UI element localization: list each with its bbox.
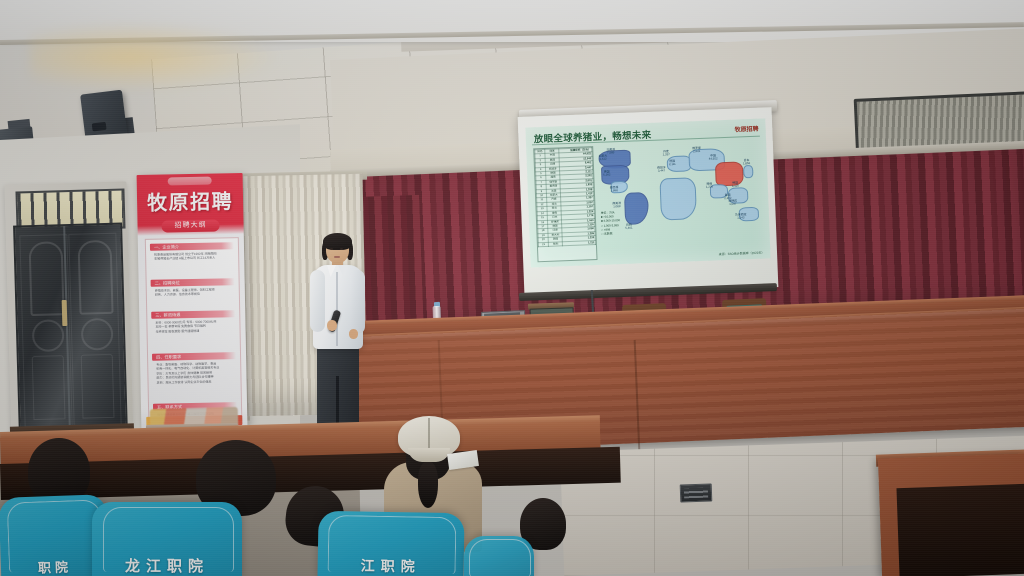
presenter-mouth: [334, 256, 340, 258]
entrance-door[interactable]: [13, 223, 128, 438]
banner-section: 二、招聘岗位养殖技术员、兽医、设备工程师、饲料工程师财务、人力资源、信息技术等岗…: [151, 278, 235, 297]
map-country-label: 北美洲7,585: [606, 148, 615, 155]
map-country-label: 俄罗斯2,601: [692, 147, 701, 154]
presenter-hair: [323, 233, 352, 250]
map-country-label: 美国5,362: [603, 170, 610, 177]
banner-headline: 牧原招聘: [137, 185, 244, 216]
map-country-label: 日本1,856: [743, 159, 750, 166]
ranking-table: 排名国家生猪存栏（万头）1中国44,9222美国12,9403巴西5,4614西…: [534, 147, 596, 247]
chair-piping: [469, 539, 531, 576]
table-cell: 1,211: [563, 240, 596, 246]
banner-content-panel: 一、企业简介牧原食品股份有限公司 创立于1992年 河南南阳生猪养殖全产业链 A…: [145, 237, 243, 423]
presenter-eye: [340, 248, 343, 250]
banner-text-line: 其他：服从工作安排 认同企业文化价值观: [157, 379, 234, 385]
map-country-label: 德国2,111: [669, 160, 676, 167]
map-country-label: 加拿大1,412: [598, 155, 607, 162]
presenter: [302, 236, 372, 448]
banner-section: 四、任职要求专业：畜牧兽医、动物科学、动物医学、食品机电一体化、电气自动化、计算…: [152, 352, 237, 385]
presenter-arm: [350, 270, 365, 334]
slide-legend: 单位：万头 ■ >10,000■ 4,000-10,000□ 1,000-3,9…: [601, 210, 621, 236]
door-arch-panel: [29, 241, 65, 316]
legend-items: ■ >10,000■ 4,000-10,000□ 1,000-3,999□ <9…: [601, 214, 621, 236]
map-region-china: [715, 161, 744, 186]
door-lower-panel: [32, 355, 66, 420]
audience-chair[interactable]: 龙江职院: [92, 502, 242, 576]
map-country-label: 西班牙3,447: [657, 166, 666, 173]
map-region-brazil: [624, 192, 649, 225]
company-logo-icon: [168, 177, 212, 186]
door-circle-panel: [32, 319, 65, 352]
map-country-label: 缅甸1,226: [706, 183, 713, 190]
banner-section-text: 牧原食品股份有限公司 创立于1992年 河南南阳生猪养殖全产业链 A股上市公司 …: [150, 249, 234, 261]
banner-text-line: 年终奖金 股权激励 晋升通道畅通: [156, 328, 233, 334]
map-country-label: 中国44,922: [709, 154, 718, 161]
door-leaf-right: [68, 233, 121, 426]
banner-section: 一、企业简介牧原食品股份有限公司 创立于1992年 河南南阳生猪养殖全产业链 A…: [150, 242, 234, 261]
desk-right-shadow: [896, 484, 1024, 576]
map-region-japan: [743, 165, 753, 178]
map-country-label: 南美洲1,089: [612, 202, 621, 209]
table-cell: 21: [538, 242, 548, 247]
audience-chair[interactable]: 江职院: [317, 511, 464, 576]
banner-section: 三、薪资待遇本科：6000-9000元/月 专科：5000-7000元/月五险一…: [151, 310, 235, 334]
map-country-label: 马来西亚1,343: [735, 213, 747, 220]
table-row: 21智利1,211: [538, 240, 595, 247]
map-country-label: 韩国1,116: [732, 182, 739, 189]
door-lower-panel: [81, 354, 115, 419]
legend-item: □ 无数据: [601, 231, 620, 236]
presenter-hand: [327, 320, 337, 331]
slide-ranking-table: 排名国家生猪存栏（万头）1中国44,9222美国12,9403巴西5,4614西…: [533, 146, 597, 262]
chair-school-label: 江职院: [318, 555, 464, 576]
banner-section-text: 养殖技术员、兽医、设备工程师、饲料工程师财务、人力资源、信息技术等岗位: [151, 285, 235, 297]
world-map-graphic: 北美洲7,585美国5,362加拿大1,412墨西哥1,868巴西5,461南美…: [596, 141, 764, 249]
slide-source-note: 来源：FAO统计数据库（2022年）: [719, 251, 765, 257]
door-handle[interactable]: [62, 300, 68, 326]
ceiling-light-glow: [30, 22, 280, 92]
door-arch-panel: [78, 240, 114, 315]
banner-subtitle: 招聘大纲: [161, 219, 219, 232]
audience-chair[interactable]: [464, 536, 534, 576]
map-country-label: 墨西哥1,868: [610, 186, 619, 193]
chair-school-label: 龙江职院: [92, 555, 242, 576]
audience-ponytail: [418, 462, 438, 508]
auditorium-photo: 放眼全球养猪业，畅想未来 牧原招聘 排名国家生猪存栏（万头）1中国44,9222…: [0, 0, 1024, 576]
stage-plaque: [680, 483, 713, 502]
map-country-label: 菲律宾1,097: [728, 200, 737, 207]
map-country-label: 巴西5,461: [625, 224, 632, 231]
presenter-shirt-placket: [336, 272, 338, 346]
map-region-africa: [659, 177, 697, 220]
presentation-slide: 放眼全球养猪业，畅想未来 牧原招聘 排名国家生猪存栏（万头）1中国44,9222…: [525, 118, 770, 267]
banner-section-text: 本科：6000-9000元/月 专科：5000-7000元/月五险一金 带薪年假…: [151, 317, 235, 334]
table-cell: 智利: [549, 241, 563, 246]
banner-text-line: 生猪养殖全产业链 A股上市公司 员工14万余人: [154, 256, 231, 262]
banner-text-line: 财务、人力资源、信息技术等岗位: [155, 292, 232, 298]
door-circle-panel: [81, 318, 114, 351]
presenter-arm: [310, 270, 325, 332]
presenter-eye: [330, 248, 333, 250]
map-country-label: 丹麦1,337: [662, 150, 669, 157]
banner-section-text: 专业：畜牧兽医、动物科学、动物医学、食品机电一体化、电气自动化、计算机类等相关专…: [152, 359, 236, 385]
recruitment-banner: 牧原招聘 招聘大纲 一、企业简介牧原食品股份有限公司 创立于1992年 河南南阳…: [137, 173, 248, 429]
presenter-hand: [349, 329, 358, 339]
slide-company-logo: 牧原招聘: [734, 124, 758, 134]
